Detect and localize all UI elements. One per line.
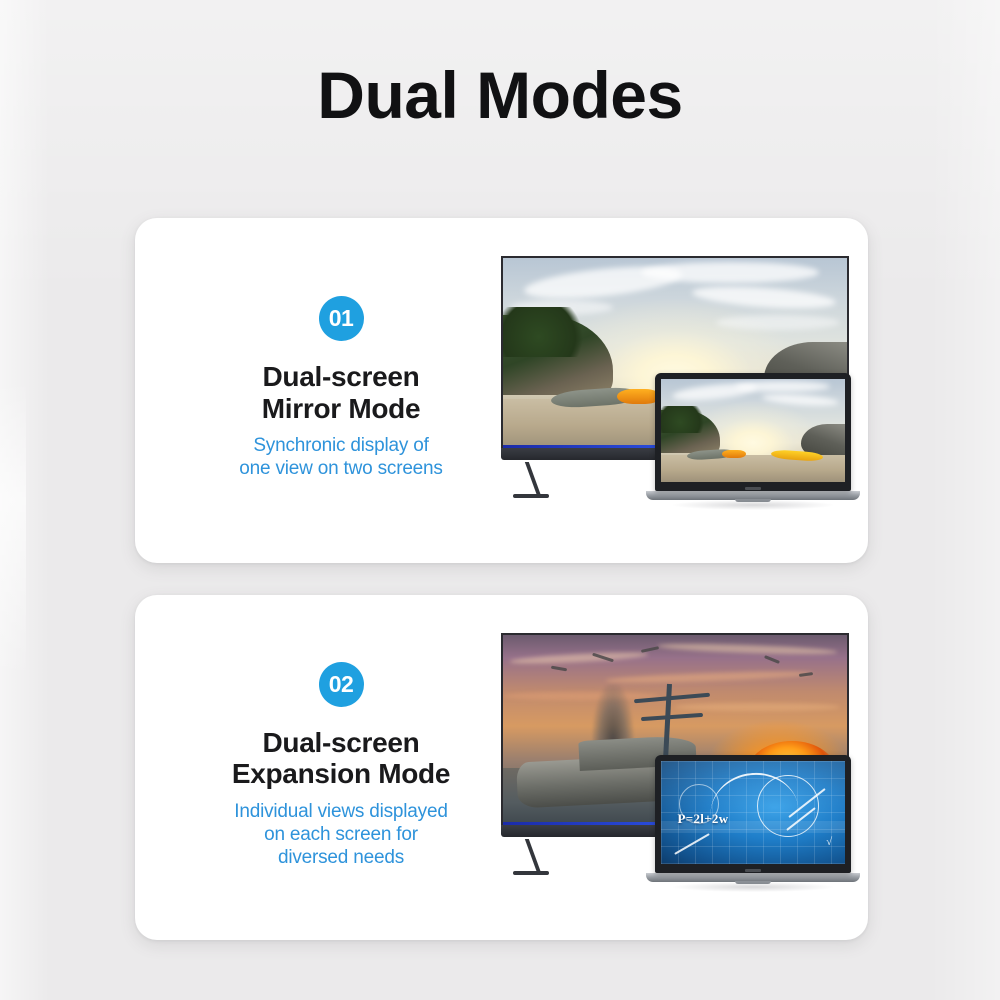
tv-foot-left — [513, 494, 549, 498]
mode-card-mirror[interactable]: 01 Dual-screen Mirror Mode Synchronic di… — [135, 218, 868, 563]
card-subtitle: Individual views displayed on each scree… — [234, 800, 447, 870]
laptop-formula-text: P=2l+2w — [678, 811, 729, 827]
step-badge-02: 02 — [319, 662, 364, 707]
tv-foot-left — [513, 871, 549, 875]
page-title: Dual Modes — [0, 57, 1000, 133]
laptop-screen — [661, 379, 845, 482]
plane-icon — [551, 666, 567, 672]
plane-icon — [799, 672, 813, 677]
laptop-lid: P=2l+2w √ — [655, 755, 851, 873]
device-illustration-expansion: P=2l+2w √ — [487, 595, 862, 940]
card-heading: Dual-screen Mirror Mode — [262, 361, 420, 424]
blueprint-math-scene: P=2l+2w √ — [661, 761, 845, 864]
mode-card-expansion[interactable]: 02 Dual-screen Expansion Mode Individual… — [135, 595, 868, 940]
card-heading: Dual-screen Expansion Mode — [232, 727, 450, 790]
plane-icon — [640, 646, 658, 653]
laptop-logo — [745, 487, 761, 490]
card-text-column: 02 Dual-screen Expansion Mode Individual… — [161, 595, 521, 940]
laptop-device: P=2l+2w √ — [655, 755, 851, 882]
laptop-shadow — [673, 500, 834, 510]
foliage — [503, 307, 592, 356]
plane-icon — [764, 655, 780, 664]
laptop-shadow — [673, 882, 834, 892]
laptop-lid — [655, 373, 851, 491]
card-subtitle: Synchronic display of one view on two sc… — [239, 434, 442, 480]
laptop-formula-secondary: √ — [826, 836, 832, 848]
card-text-column: 01 Dual-screen Mirror Mode Synchronic di… — [161, 218, 521, 563]
beach-sunset-scene-mirrored — [661, 379, 845, 482]
device-illustration-mirror — [487, 218, 862, 563]
laptop-logo — [745, 869, 761, 872]
background-edge-highlight — [0, 380, 26, 680]
tv-leg-left — [525, 462, 541, 496]
tv-leg-left — [525, 839, 541, 873]
step-badge-01: 01 — [319, 296, 364, 341]
laptop-device — [655, 373, 851, 500]
laptop-screen: P=2l+2w √ — [661, 761, 845, 864]
